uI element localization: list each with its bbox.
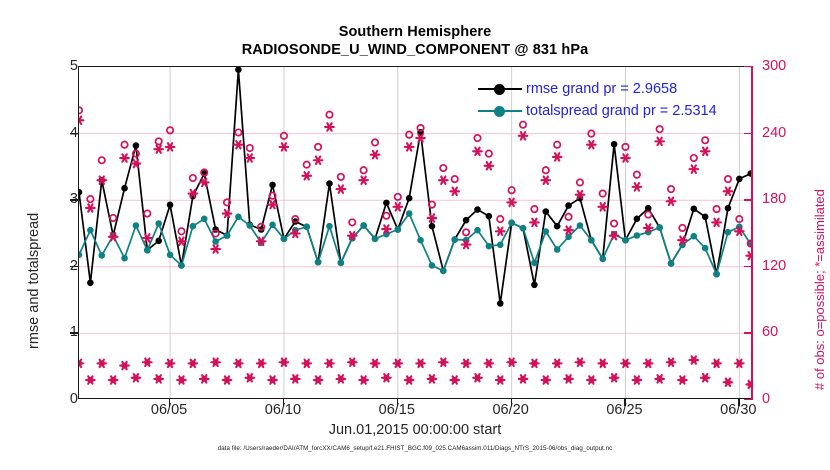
y-axis-tick-left: 0 [18,391,78,407]
x-axis-tick-mark [624,399,625,406]
legend-item[interactable]: totalspread grand pr = 2.5314 [478,100,717,122]
x-axis-tick-mark [511,399,512,406]
y-axis-tick-mark-left [70,133,78,134]
y-axis-tick-left: 4 [18,125,78,141]
data-file-caption: data file: /Users/raeder/DAI/ATM_forcXX/… [78,445,752,452]
y-axis-tick-mark-left [70,332,78,333]
y-axis-tick-mark-right [744,332,752,333]
y-axis-tick-mark-left [70,199,78,200]
right-axis-line [751,66,753,400]
legend-item-label: totalspread grand pr = 2.5314 [526,103,717,119]
y-axis-tick-right: 240 [762,125,822,141]
page-title-line1: Southern Hemisphere [0,24,830,40]
y-axis-label-right: # of obs: o=possible; *=assimilated [812,189,827,390]
chart-legend: rmse grand pr = 2.9658totalspread grand … [478,78,717,122]
legend-item-label: rmse grand pr = 2.9658 [526,81,677,97]
legend-marker-icon [478,82,522,96]
y-axis-tick-mark-right [744,399,752,400]
page-title-line2: RADIOSONDE_U_WIND_COMPONENT @ 831 hPa [0,42,830,58]
y-axis-tick-mark-right [744,199,752,200]
x-axis-tick-mark [738,399,739,406]
chart-page: Southern Hemisphere RADIOSONDE_U_WIND_CO… [0,0,830,470]
y-axis-tick-mark-right [744,133,752,134]
legend-item[interactable]: rmse grand pr = 2.9658 [478,78,717,100]
y-axis-tick-mark-right [744,266,752,267]
y-axis-label-left: rmse and totalspread [26,213,42,349]
x-axis-tick-mark [169,399,170,406]
y-axis-tick-mark-left [70,266,78,267]
x-axis-tick-mark [397,399,398,406]
y-axis-tick-left: 3 [18,191,78,207]
legend-marker-icon [478,104,522,118]
x-axis-tick-mark [283,399,284,406]
y-axis-tick-left: 5 [18,58,78,74]
x-axis-label: Jun.01,2015 00:00:00 start [78,422,752,438]
y-axis-tick-right: 300 [762,58,822,74]
y-axis-tick-mark-right [744,66,752,67]
